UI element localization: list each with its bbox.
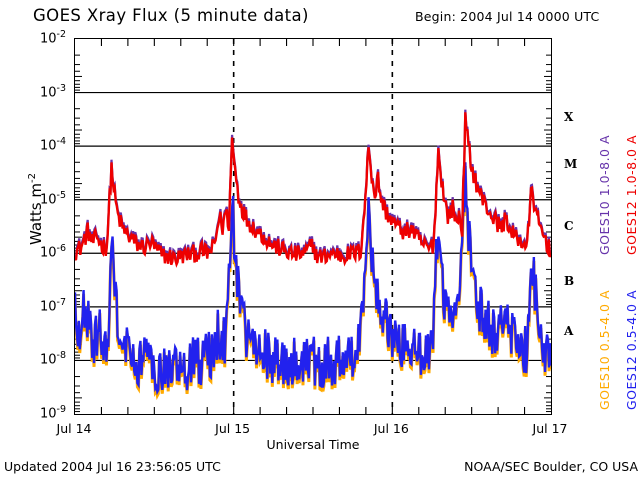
flare-class-B: B [564, 274, 574, 288]
y-axis-label-exponent: -2 [27, 173, 38, 183]
legend-goes12-1-0-8-0-a: GOES12 1.0-8.0 A [624, 135, 639, 255]
y-tick-10-7: 10-7 [22, 297, 66, 314]
legend-goes10-1-0-8-0-a: GOES10 1.0-8.0 A [597, 135, 612, 255]
flare-class-A: A [564, 324, 573, 338]
y-tick-10-5: 10-5 [22, 190, 66, 207]
y-tick-10-3: 10-3 [22, 83, 66, 100]
y-tick-10-4: 10-4 [22, 136, 66, 153]
updated-timestamp: Updated 2004 Jul 16 23:56:05 UTC [4, 459, 221, 474]
flare-class-M: M [564, 157, 577, 171]
begin-time-label: Begin: 2004 Jul 14 0000 UTC [415, 9, 599, 24]
flare-class-C: C [564, 219, 574, 233]
legend-goes10-0-5-4-0-a: GOES10 0.5-4.0 A [597, 290, 612, 410]
flare-class-X: X [564, 110, 573, 124]
page-title: GOES Xray Flux (5 minute data) [33, 6, 309, 25]
x-axis-label: Universal Time [74, 437, 552, 452]
x-tick-label: Jul 16 [374, 421, 409, 436]
source-credit: NOAA/SEC Boulder, CO USA [464, 459, 638, 474]
legend-goes12-0-5-4-0-a: GOES12 0.5-4.0 A [624, 290, 639, 410]
y-tick-10-8: 10-8 [22, 350, 66, 367]
x-tick-label: Jul 17 [533, 421, 568, 436]
chart-plot-area[interactable] [74, 38, 552, 415]
y-tick-10-6: 10-6 [22, 243, 66, 260]
x-tick-label: Jul 14 [57, 421, 92, 436]
x-tick-label: Jul 15 [215, 421, 250, 436]
chart-svg [75, 39, 551, 414]
y-tick-10-2: 10-2 [22, 29, 66, 46]
y-tick-10-9: 10-9 [22, 404, 66, 421]
